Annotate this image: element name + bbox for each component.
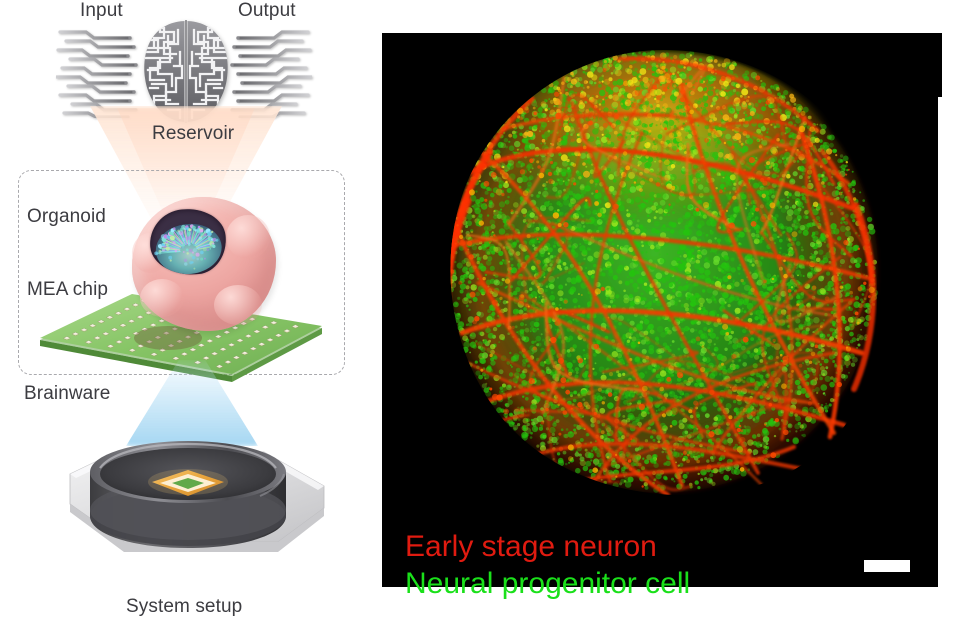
organoid-lump [226, 215, 270, 259]
circuit-traces-output-icon [226, 26, 312, 118]
organoid-spheroid-icon [128, 193, 280, 335]
legend-neural-progenitor-cell: Neural progenitor cell [405, 568, 690, 600]
schematic-panel: Input Output Reservoir [0, 0, 372, 626]
organoid-lump [140, 279, 184, 317]
figure-root: Input Output Reservoir [0, 0, 960, 626]
scale-bar [864, 560, 910, 572]
label-system-setup: System setup [126, 597, 242, 617]
organoid-fluorescence-image [382, 33, 938, 587]
label-mea-chip: MEA chip [27, 280, 108, 300]
label-organoid: Organoid [27, 207, 106, 227]
label-input: Input [80, 1, 123, 21]
organoid-lump [214, 285, 262, 325]
label-brainware: Brainware [24, 384, 110, 404]
label-reservoir: Reservoir [152, 124, 234, 144]
petri-dish-icon [28, 412, 346, 592]
label-output: Output [238, 1, 296, 21]
microscopy-panel: Early stage neuron Neural progenitor cel… [382, 33, 942, 587]
circuit-traces-input-icon [56, 26, 142, 118]
legend-early-stage-neuron: Early stage neuron [405, 531, 657, 563]
